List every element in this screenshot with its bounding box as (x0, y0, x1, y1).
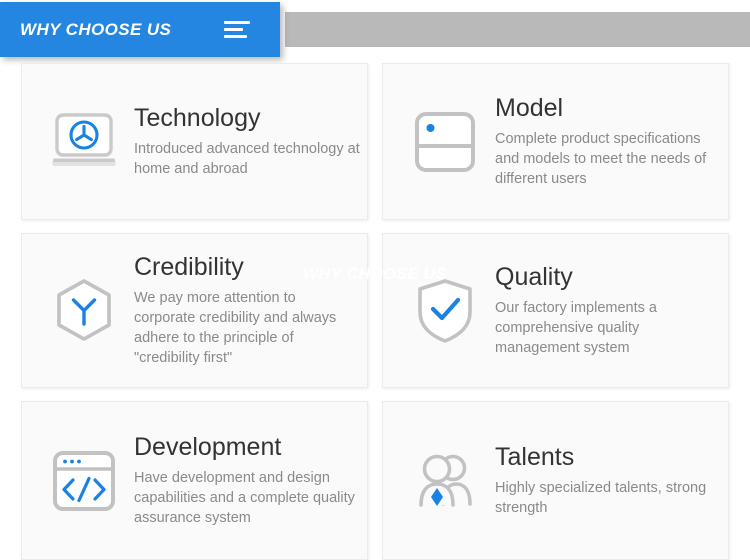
feature-card-development[interactable]: Development Have development and design … (21, 401, 368, 560)
card-description: Complete product specifications and mode… (495, 129, 722, 189)
model-panel-icon (395, 111, 495, 173)
section-title-tab[interactable]: WHY CHOOSE US (0, 2, 280, 57)
laptop-technology-icon (34, 111, 134, 173)
card-description: Our factory implements a comprehensive q… (495, 298, 722, 358)
card-text-block: Development Have development and design … (134, 433, 367, 529)
card-title: Model (495, 94, 722, 123)
card-text-block: Technology Introduced advanced technolog… (134, 104, 367, 180)
card-text-block: Credibility We pay more attention to cor… (134, 253, 367, 369)
feature-card-model[interactable]: Model Complete product specifications an… (382, 63, 729, 220)
feature-card-credibility[interactable]: Credibility We pay more attention to cor… (21, 233, 368, 388)
people-talents-icon (395, 451, 495, 511)
card-title: Technology (134, 104, 361, 133)
page-header: WHY CHOOSE US (0, 0, 750, 60)
card-text-block: Talents Highly specialized talents, stro… (495, 443, 728, 519)
feature-card-technology[interactable]: Technology Introduced advanced technolog… (21, 63, 368, 220)
section-title-label: WHY CHOOSE US (20, 20, 171, 40)
header-gray-bar (285, 12, 750, 47)
card-title: Development (134, 433, 361, 462)
card-description: Highly specialized talents, strong stren… (495, 478, 722, 518)
card-title: Talents (495, 443, 722, 472)
menu-lines-icon[interactable] (224, 21, 250, 39)
card-text-block: Model Complete product specifications an… (495, 94, 728, 190)
shield-check-quality-icon (395, 278, 495, 344)
code-window-development-icon (34, 450, 134, 512)
feature-card-grid: Technology Introduced advanced technolog… (21, 63, 729, 560)
card-title: Credibility (134, 253, 361, 282)
card-title: Quality (495, 263, 722, 292)
feature-card-talents[interactable]: Talents Highly specialized talents, stro… (382, 401, 729, 560)
feature-card-quality[interactable]: Quality Our factory implements a compreh… (382, 233, 729, 388)
hexagon-credibility-icon (34, 278, 134, 344)
card-description: Introduced advanced technology at home a… (134, 139, 361, 179)
card-description: We pay more attention to corporate credi… (134, 288, 361, 368)
card-description: Have development and design capabilities… (134, 468, 361, 528)
card-text-block: Quality Our factory implements a compreh… (495, 263, 728, 359)
